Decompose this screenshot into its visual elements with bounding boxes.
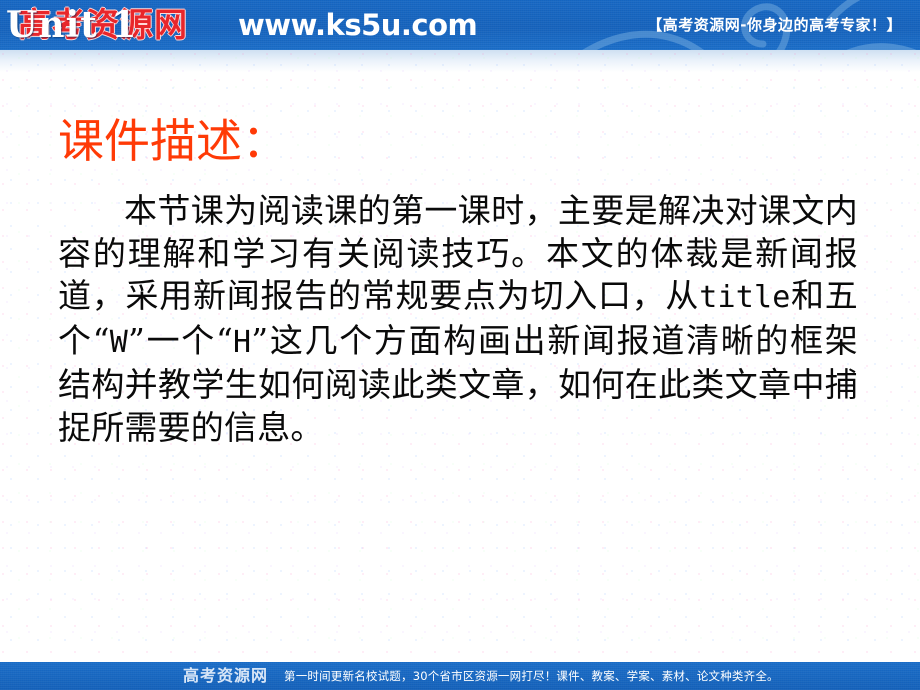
site-footer-banner: 高考资源网 第一时间更新名校试题，30个省市区资源一网打尽！课件、教案、学案、素… [0, 662, 920, 690]
body-keyword-h: H [233, 325, 251, 360]
footer-logo[interactable]: 高考资源网 [183, 666, 268, 686]
header-fade-strip [0, 50, 920, 72]
slide-content: 课件描述： 本节课为阅读课的第一课时，主要是解决对课文内容的理解和学习有关阅读技… [0, 72, 920, 652]
site-url[interactable]: www.ks5u.com [238, 9, 477, 41]
body-text-segment-3: ”一个“ [128, 321, 233, 360]
site-logo[interactable]: 高考资源网 Unit 1 [6, 4, 211, 46]
body-keyword-w: W [110, 325, 128, 360]
footer-note: 第一时间更新名校试题，30个省市区资源一网打尽！课件、教案、学案、素材、论文种类… [284, 668, 779, 685]
slide-body-text: 本节课为阅读课的第一课时，主要是解决对课文内容的理解和学习有关阅读技巧。本文的体… [58, 190, 858, 449]
page-title: 课件描述： [58, 114, 288, 168]
presentation-slide: 高考资源网 Unit 1 www.ks5u.com 【高考资源网-你身边的高考专… [0, 0, 920, 690]
site-header-banner: 高考资源网 Unit 1 www.ks5u.com 【高考资源网-你身边的高考专… [0, 0, 920, 50]
site-tagline: 【高考资源网-你身边的高考专家！】 [647, 15, 902, 35]
body-keyword-title: title [699, 280, 790, 315]
site-logo-unit-overlay: Unit 1 [6, 4, 137, 46]
